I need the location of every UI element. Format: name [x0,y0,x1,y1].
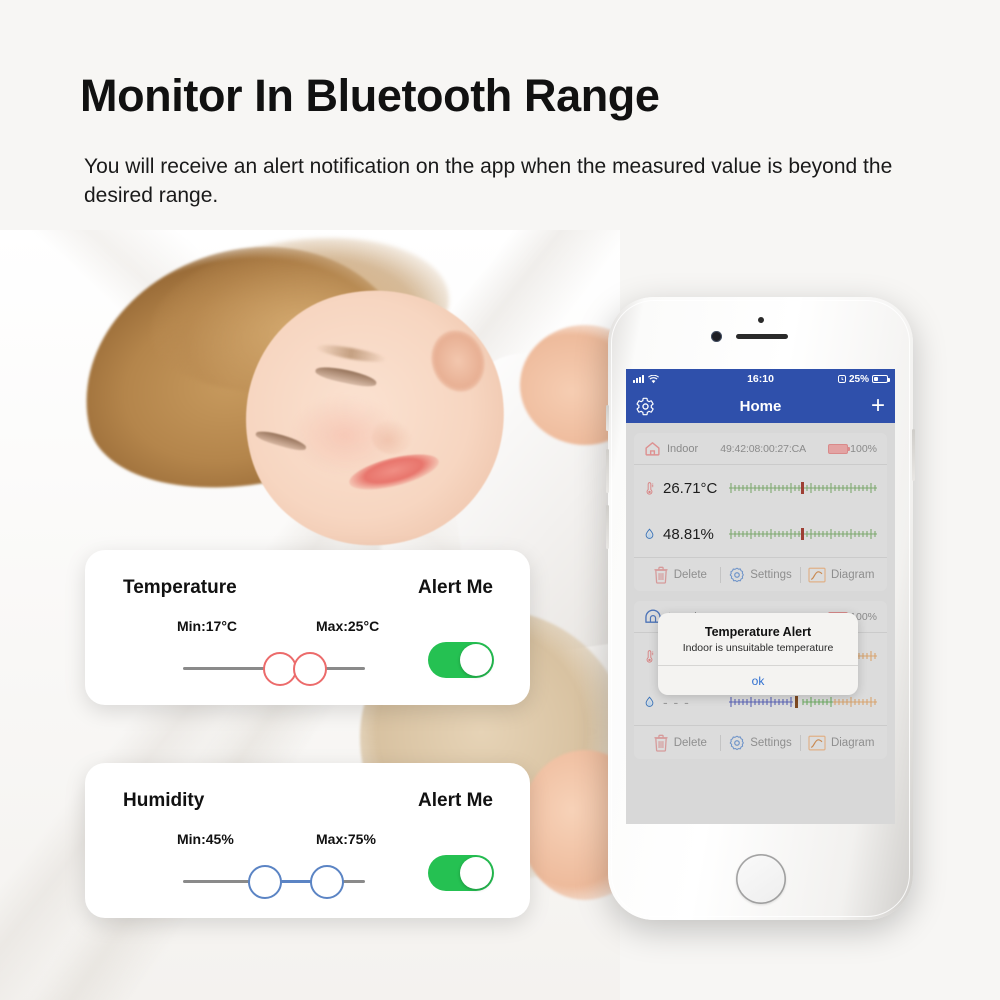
trash-icon [653,734,669,752]
humidity-card-title: Humidity [123,790,204,812]
gear-icon [729,735,745,751]
humidity-value: 48.81% [663,526,719,543]
humidity-alert-toggle[interactable] [428,855,494,891]
add-device-button[interactable]: + [871,394,885,418]
chart-icon [808,735,826,751]
status-battery-icon [872,375,888,383]
earpiece-speaker [736,334,788,339]
humidity-min-knob[interactable] [248,865,282,899]
alarm-icon [838,375,846,383]
humidity-range-slider[interactable] [183,865,365,899]
battery-icon [828,444,848,454]
diagram-label: Diagram [831,737,874,749]
humidity-gauge [729,695,877,709]
power-button[interactable] [912,429,915,481]
status-battery-pct: 25% [849,374,869,385]
device-battery: 100% [828,443,877,455]
home-button[interactable] [736,854,786,904]
front-camera [711,331,722,342]
temperature-row: 26.71°C [634,465,887,511]
device-mac: 49:42:08:00:27:CA [720,443,806,455]
delete-button[interactable]: Delete [640,734,720,752]
battery-percent: 100% [850,443,877,455]
app-navbar: Home + [626,389,895,423]
device-toolbar: Delete Settings [634,557,887,591]
settings-label: Settings [750,737,792,749]
settings-label: Settings [750,569,792,581]
alert-ok-button[interactable]: ok [658,665,858,695]
proximity-sensor [758,317,764,323]
humidity-max-label: Max:75% [316,831,376,847]
temperature-min-knob[interactable] [263,652,297,686]
page-title: Monitor In Bluetooth Range [80,70,660,122]
gear-icon [729,567,745,583]
temperature-settings-card: Temperature Alert Me Min:17°C Max:25°C [85,550,530,705]
temperature-gauge [729,481,877,495]
phone-screen: 16:10 25% Home + [626,369,895,824]
settings-button[interactable]: Settings [721,567,801,583]
temperature-alert-toggle[interactable] [428,642,494,678]
diagram-label: Diagram [831,569,874,581]
alert-body: Temperature Alert Indoor is unsuitable t… [658,613,858,665]
temperature-alert-label: Alert Me [418,577,493,599]
water-drop-icon [644,691,655,714]
temperature-toggle-thumb [460,644,492,676]
navbar-title: Home [626,398,895,415]
page-subtitle: You will receive an alert notification o… [84,153,904,211]
humidity-settings-card: Humidity Alert Me Min:45% Max:75% [85,763,530,918]
temperature-max-knob[interactable] [293,652,327,686]
child-nose [372,420,412,454]
status-bar: 16:10 25% [626,369,895,389]
device-header[interactable]: Indoor 49:42:08:00:27:CA 100% [634,433,887,465]
phone-mockup: 16:10 25% Home + [608,297,913,920]
humidity-min-label: Min:45% [177,831,234,847]
settings-button[interactable]: Settings [721,735,801,751]
delete-label: Delete [674,737,707,749]
device-list: Indoor 49:42:08:00:27:CA 100% 26.71°C [626,423,895,824]
thermometer-icon [644,644,655,669]
water-drop-icon [644,523,655,546]
humidity-row: 48.81% [634,511,887,557]
volume-down-button[interactable] [606,505,609,549]
humidity-max-knob[interactable] [310,865,344,899]
status-right: 25% [838,374,888,385]
humidity-alert-label: Alert Me [418,790,493,812]
temperature-range-slider[interactable] [183,652,365,686]
delete-label: Delete [674,569,707,581]
alert-title: Temperature Alert [668,625,848,639]
diagram-button[interactable]: Diagram [801,567,881,583]
house-icon [644,440,661,457]
device-toolbar: Delete Settings [634,725,887,759]
alert-message: Indoor is unsuitable temperature [668,642,848,654]
humidity-toggle-thumb [460,857,492,889]
thermometer-icon [644,476,655,501]
silent-switch[interactable] [606,405,609,431]
chart-icon [808,567,826,583]
temperature-max-label: Max:25°C [316,618,379,634]
temperature-min-label: Min:17°C [177,618,237,634]
diagram-button[interactable]: Diagram [801,735,881,751]
temperature-value: 26.71°C [663,480,719,497]
volume-up-button[interactable] [606,449,609,493]
humidity-value: - - - [663,694,719,710]
temperature-card-title: Temperature [123,577,237,599]
temperature-alert-dialog: Temperature Alert Indoor is unsuitable t… [658,613,858,695]
device-card-indoor: Indoor 49:42:08:00:27:CA 100% 26.71°C [634,433,887,591]
trash-icon [653,566,669,584]
device-name: Indoor [667,443,698,455]
humidity-gauge [729,527,877,541]
delete-button[interactable]: Delete [640,566,720,584]
